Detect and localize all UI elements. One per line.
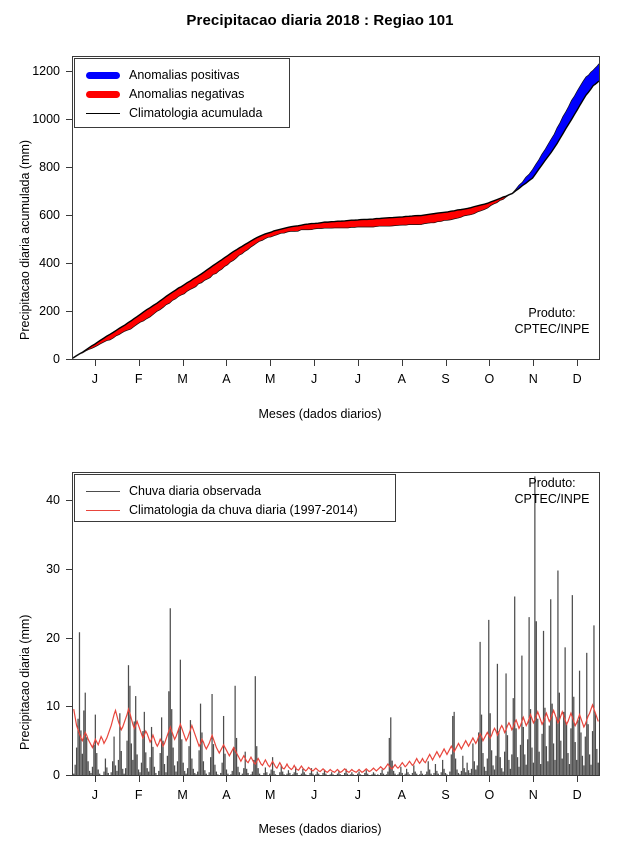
legend-swatch (86, 91, 120, 98)
x-tick (183, 776, 184, 782)
legend-item: Anomalias negativas (86, 87, 244, 101)
x-tick (314, 776, 315, 782)
legend-line-marker (86, 491, 120, 492)
x-tick (139, 776, 140, 782)
legend-item: Climatologia da chuva diaria (1997-2014) (86, 503, 358, 517)
y-tick-label: 800 (16, 160, 60, 174)
legend-label: Anomalias negativas (129, 87, 244, 101)
x-tick (226, 360, 227, 366)
y-tick (66, 71, 72, 72)
bottom-produto-annotation: Produto: CPTEC/INPE (492, 476, 612, 507)
x-tick (95, 360, 96, 366)
x-tick-label: A (222, 372, 230, 386)
y-tick-label: 40 (16, 493, 60, 507)
x-tick-label: M (265, 372, 275, 386)
x-tick (402, 776, 403, 782)
x-tick (358, 360, 359, 366)
y-tick (66, 775, 72, 776)
y-tick-label: 0 (16, 352, 60, 366)
x-tick-label: J (355, 788, 361, 802)
y-tick (66, 167, 72, 168)
x-tick (533, 776, 534, 782)
x-tick-label: O (485, 788, 495, 802)
y-tick-label: 20 (16, 631, 60, 645)
produto-line-2: CPTEC/INPE (514, 492, 589, 506)
positive-anomaly-area (512, 64, 599, 194)
figure-root: Precipitacao diaria 2018 : Regiao 101 Pr… (0, 0, 640, 850)
page-title: Precipitacao diaria 2018 : Regiao 101 (0, 12, 640, 29)
legend-line-marker (86, 113, 120, 114)
x-tick-label: A (222, 788, 230, 802)
x-tick-label: F (135, 372, 143, 386)
legend-label: Anomalias positivas (129, 68, 239, 82)
x-tick-label: J (311, 372, 317, 386)
y-tick (66, 638, 72, 639)
negative-anomaly-area (80, 195, 510, 354)
top-xaxis-title: Meses (dados diarios) (0, 407, 640, 421)
y-tick-label: 200 (16, 304, 60, 318)
y-tick-label: 600 (16, 208, 60, 222)
legend-item: Chuva diaria observada (86, 484, 261, 498)
x-tick (270, 360, 271, 366)
y-tick (66, 311, 72, 312)
x-tick-label: J (311, 788, 317, 802)
x-tick-label: N (529, 788, 538, 802)
x-tick (226, 776, 227, 782)
y-tick (66, 263, 72, 264)
y-tick (66, 359, 72, 360)
x-tick (139, 360, 140, 366)
x-tick-label: J (92, 372, 98, 386)
x-tick-label: M (265, 788, 275, 802)
x-tick (489, 776, 490, 782)
legend-item: Anomalias positivas (86, 68, 239, 82)
legend-label: Climatologia acumulada (129, 106, 262, 120)
x-tick-label: S (441, 372, 449, 386)
x-tick (402, 360, 403, 366)
produto-line-2: CPTEC/INPE (514, 322, 589, 336)
y-tick (66, 119, 72, 120)
y-tick-label: 1000 (16, 112, 60, 126)
produto-line-1: Produto: (528, 306, 575, 320)
x-tick-label: N (529, 372, 538, 386)
legend-line-marker (86, 510, 120, 511)
x-tick (95, 776, 96, 782)
x-tick-label: S (441, 788, 449, 802)
x-tick (183, 360, 184, 366)
x-tick (446, 776, 447, 782)
x-tick-label: D (573, 788, 582, 802)
legend-label: Climatologia da chuva diaria (1997-2014) (129, 503, 358, 517)
y-tick-label: 0 (16, 768, 60, 782)
x-tick-label: O (485, 372, 495, 386)
y-tick (66, 569, 72, 570)
legend-swatch (86, 72, 120, 79)
produto-line-1: Produto: (528, 476, 575, 490)
x-tick-label: A (398, 788, 406, 802)
x-tick-label: D (573, 372, 582, 386)
legend-item: Climatologia acumulada (86, 106, 262, 120)
x-tick-label: J (355, 372, 361, 386)
x-tick-label: M (177, 788, 187, 802)
x-tick (533, 360, 534, 366)
accumulated-panel: Precipitacao diaria acumulada (mm) 02004… (0, 40, 640, 440)
x-tick (270, 776, 271, 782)
y-tick-label: 30 (16, 562, 60, 576)
x-tick-label: A (398, 372, 406, 386)
x-tick (446, 360, 447, 366)
daily-panel: Precipitacao diaria (mm) 010203040 JFMAM… (0, 462, 640, 850)
x-tick (314, 360, 315, 366)
x-tick (489, 360, 490, 366)
x-tick-label: F (135, 788, 143, 802)
x-tick (577, 360, 578, 366)
y-tick-label: 1200 (16, 64, 60, 78)
legend-label: Chuva diaria observada (129, 484, 261, 498)
x-tick (358, 776, 359, 782)
y-tick-label: 400 (16, 256, 60, 270)
x-tick-label: J (92, 788, 98, 802)
bottom-xaxis-title: Meses (dados diarios) (0, 822, 640, 836)
x-tick-label: M (177, 372, 187, 386)
y-tick (66, 500, 72, 501)
x-tick (577, 776, 578, 782)
top-produto-annotation: Produto: CPTEC/INPE (492, 306, 612, 337)
y-tick (66, 706, 72, 707)
y-tick-label: 10 (16, 699, 60, 713)
y-tick (66, 215, 72, 216)
